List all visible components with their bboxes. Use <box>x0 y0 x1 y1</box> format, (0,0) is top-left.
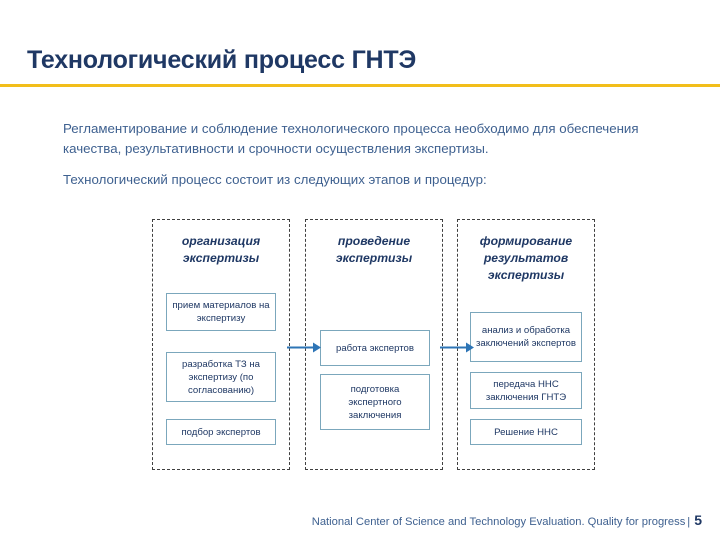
node-podbor-ekspertov: подбор экспертов <box>166 419 276 445</box>
footer-text: National Center of Science and Technolog… <box>312 516 686 528</box>
node-peredacha-nns: передача ННС заключения ГНТЭ <box>470 372 582 409</box>
arrow-right-icon <box>287 342 321 353</box>
slide-footer: National Center of Science and Technolog… <box>312 512 702 528</box>
column-header-results: формирование результатов экспертизы <box>458 233 594 284</box>
node-reshenie-nns: Решение ННС <box>470 419 582 445</box>
column-header-organization: организация экспертизы <box>153 233 289 267</box>
footer-separator: | <box>687 516 690 528</box>
page-number: 5 <box>694 512 702 528</box>
process-diagram: организация экспертизы прием материалов … <box>0 0 720 540</box>
arrow-right-icon <box>440 342 474 353</box>
node-rabota-ekspertov: работа экспертов <box>320 330 430 366</box>
node-priem-materialov: прием материалов на экспертизу <box>166 293 276 331</box>
node-podgotovka-zaklyucheniya: подготовка экспертного заключения <box>320 374 430 430</box>
column-header-conduct: проведение экспертизы <box>306 233 442 267</box>
node-razrabotka-tz: разработка ТЗ на экспертизу (по согласов… <box>166 352 276 402</box>
node-analiz-obrabotka: анализ и обработка заключений экспертов <box>470 312 582 362</box>
